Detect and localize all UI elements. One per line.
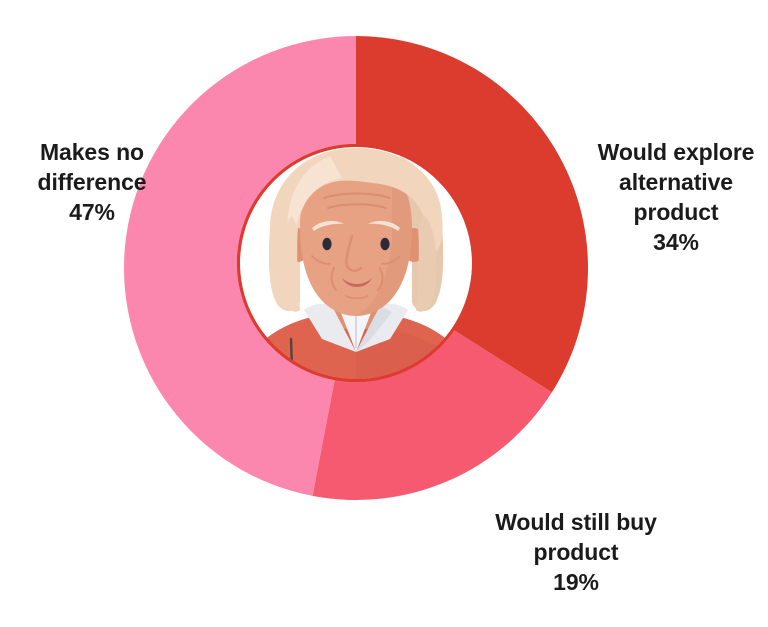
slice-label-percent: 34% bbox=[588, 228, 764, 258]
slice-label-makes-no-difference: Makes no difference 47% bbox=[6, 108, 178, 257]
avatar-eye-right bbox=[380, 238, 389, 250]
avatar-eye-left bbox=[322, 238, 331, 250]
slice-label-percent: 47% bbox=[6, 198, 178, 228]
slice-label-text: Makes no difference bbox=[38, 139, 147, 195]
donut-chart: Makes no difference 47% Would explore al… bbox=[0, 0, 768, 578]
slice-label-text: Would still buy product bbox=[495, 509, 657, 565]
slice-label-would-explore-alternative-product: Would explore alternative product 34% bbox=[588, 108, 764, 287]
slice-label-text: Would explore alternative product bbox=[598, 139, 755, 225]
slice-label-would-still-buy-product: Would still buy product 19% bbox=[470, 478, 682, 627]
slice-label-percent: 19% bbox=[470, 568, 682, 598]
